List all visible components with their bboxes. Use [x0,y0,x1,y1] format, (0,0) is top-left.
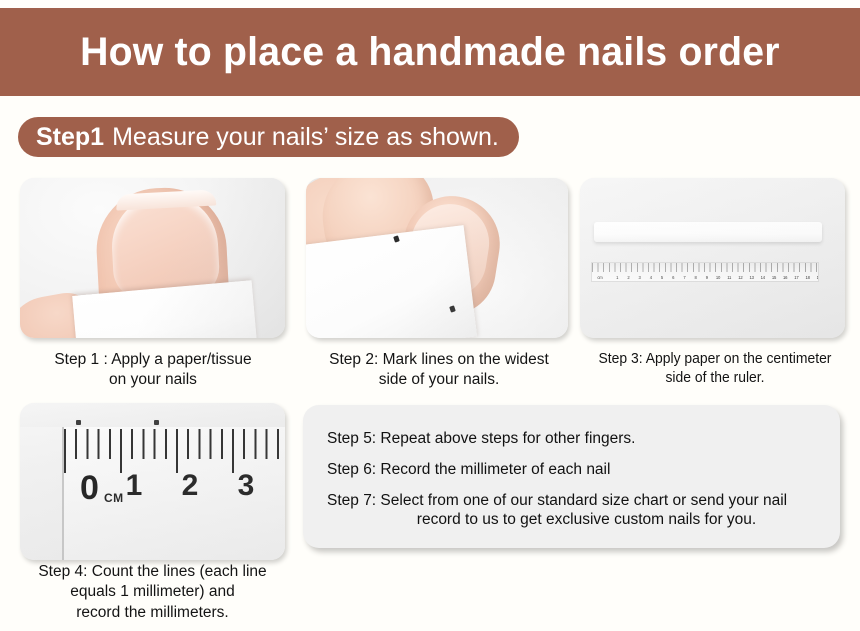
caption-step-1-line-1: Step 1 : Apply a paper/tissue [8,350,298,370]
photo-vignette [20,178,285,338]
caption-step-3-line-1: Step 3: Apply paper on the centimeter [581,350,850,369]
fingers-holding-marked-paper-photo [306,178,568,338]
step-7-line-a: Step 7: Select from one of our standard … [327,492,787,509]
step1-pill: Step1 Measure your nails’ size as shown. [18,117,519,157]
caption-step-1: Step 1 : Apply a paper/tissue on your na… [8,350,298,391]
finger-with-paper-strip-photo [20,178,285,338]
photo-card-step-1 [20,178,285,338]
ruler-closeup-photo: 0 CM 123 [20,403,285,560]
caption-step-4-line-1: Step 4: Count the lines (each line [5,562,300,582]
caption-step-2: Step 2: Mark lines on the widest side of… [300,350,578,391]
step-6-line: Step 6: Record the millimeter of each na… [327,460,818,480]
caption-step-2-line-2: side of your nails. [300,370,578,390]
caption-step-3-line-2: side of the ruler. [581,369,850,388]
step1-text: Measure your nails’ size as shown. [112,123,499,152]
photo-card-step-2 [306,178,568,338]
paper-on-ruler-photo: cm1234567891011121314151617181920 [580,178,845,338]
caption-step-4: Step 4: Count the lines (each line equal… [5,562,300,623]
steps-5-7-panel: Step 5: Repeat above steps for other fin… [303,405,840,548]
step-5-line: Step 5: Repeat above steps for other fin… [327,429,818,449]
page-root: How to place a handmade nails order Step… [0,0,860,631]
photo-vignette [20,403,285,560]
step-7-line-b: record to us to get exclusive custom nai… [327,510,818,530]
caption-step-4-line-3: record the millimeters. [5,603,300,623]
photo-card-step-4: 0 CM 123 [20,403,285,560]
header-banner: How to place a handmade nails order [0,8,860,96]
photo-vignette [306,178,568,338]
page-title: How to place a handmade nails order [80,30,780,75]
caption-step-4-line-2: equals 1 millimeter) and [5,582,300,602]
step-7-line: Step 7: Select from one of our standard … [327,491,818,531]
caption-step-2-line-1: Step 2: Mark lines on the widest [300,350,578,370]
photo-card-step-3: cm1234567891011121314151617181920 [580,178,845,338]
caption-step-1-line-2: on your nails [8,370,298,390]
step1-label: Step1 [36,123,104,152]
caption-step-3: Step 3: Apply paper on the centimeter si… [581,350,850,388]
photo-vignette [580,178,845,338]
